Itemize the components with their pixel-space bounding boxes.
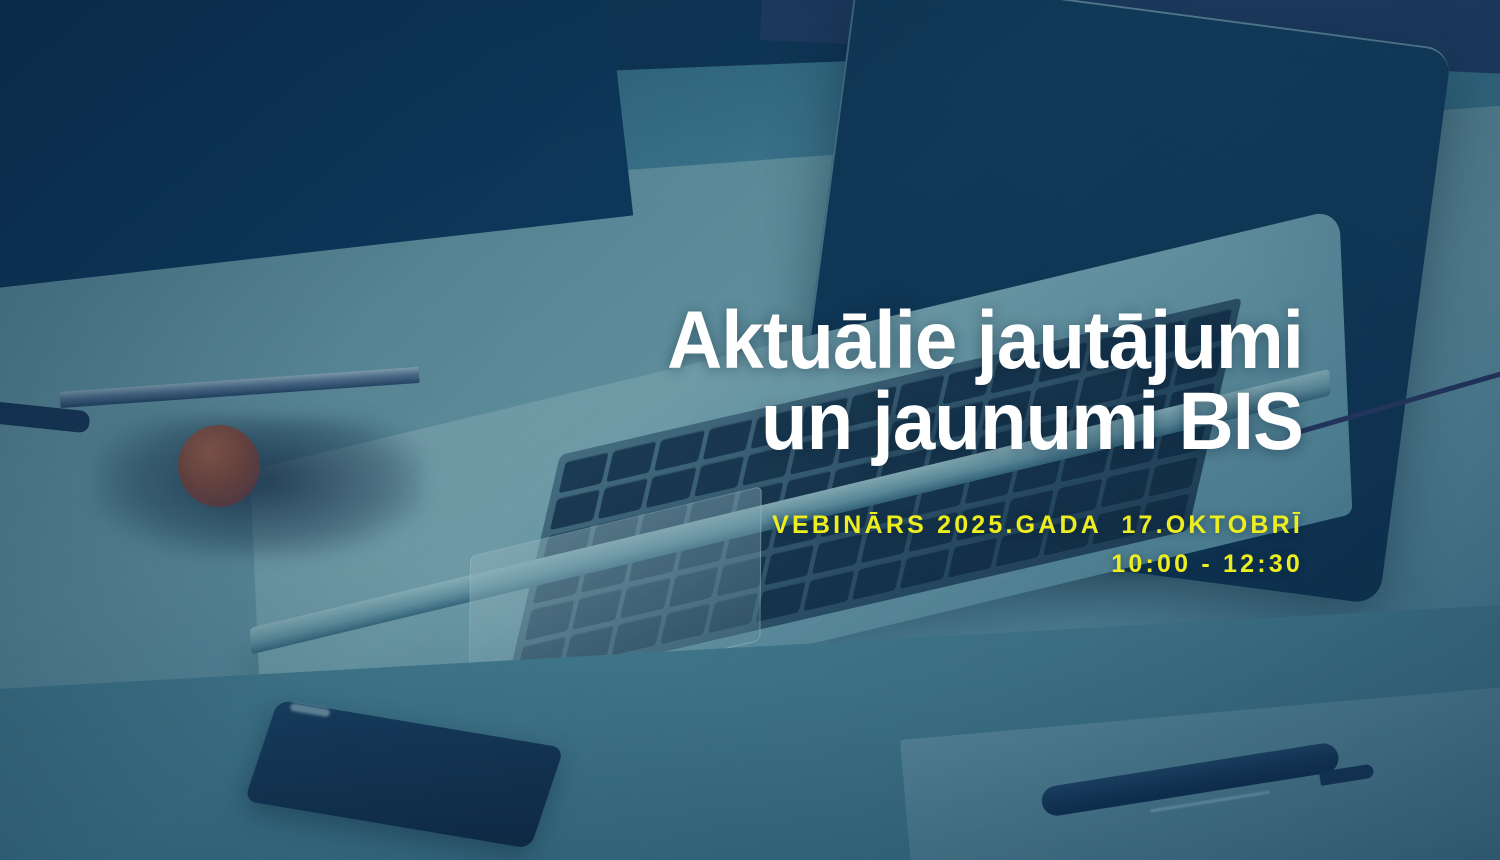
pen-tip: [1319, 764, 1375, 786]
poster-subtitle-date: VEBINĀRS 2025.GADA 17.OKTOBRĪ: [403, 506, 1303, 545]
pen-highlight: [1151, 791, 1270, 813]
ball-object: [178, 425, 260, 507]
wall-band-dark: [0, 0, 1500, 100]
cable-line: [1289, 363, 1500, 437]
wall-band-dark-right: [760, 0, 1500, 90]
poster-text-block: Aktuālie jautājumi un jaunumi BIS VEBINĀ…: [403, 300, 1303, 584]
smartphone-object: [244, 700, 564, 849]
desk-front-plane: [0, 588, 1500, 860]
paper-sheet: [900, 684, 1500, 860]
corner-navy-block: [0, 0, 633, 288]
smartphone-highlight: [290, 703, 331, 717]
poster-title: Aktuālie jautājumi un jaunumi BIS: [466, 300, 1303, 462]
webinar-poster: Aktuālie jautājumi un jaunumi BIS VEBINĀ…: [0, 0, 1500, 860]
ruler-tip: [0, 400, 91, 433]
blurred-blob: [95, 418, 425, 558]
ruler-object: [59, 367, 419, 408]
pen-object: [1040, 741, 1341, 818]
poster-subtitle-time: 10:00 - 12:30: [403, 545, 1303, 584]
